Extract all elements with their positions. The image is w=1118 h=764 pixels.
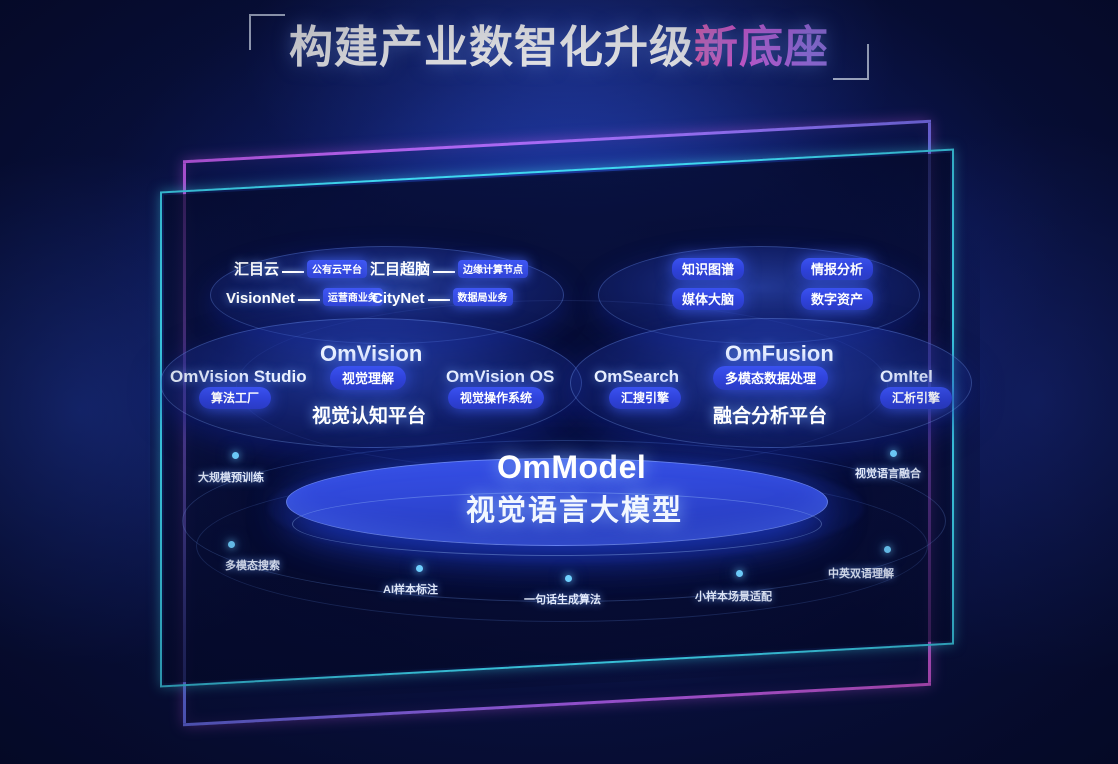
core-model-cn[interactable]: 视觉语言大模型 [466, 487, 683, 529]
entry-huimu-cloud[interactable]: 汇目云 公有云平台 [234, 258, 367, 279]
unit-omvision-cn[interactable]: 视觉理解 [330, 366, 406, 390]
core-model-en[interactable]: OmModel [497, 449, 646, 486]
satellite-multimodal-search[interactable]: 多模态搜索 [225, 557, 280, 573]
entry-dash-icon [428, 299, 450, 301]
node-dot-icon [232, 452, 239, 459]
entry-huimu-superbrain[interactable]: 汇目超脑 边缘计算节点 [370, 258, 528, 279]
entry-citynet[interactable]: CityNet 数据局业务 [372, 288, 513, 307]
badge-intel-analysis[interactable]: 情报分析 [801, 258, 873, 280]
unit-omsearch-cn[interactable]: 汇搜引擎 [609, 387, 681, 409]
unit-omsearch-en[interactable]: OmSearch [594, 367, 679, 387]
node-dot-icon [416, 565, 423, 572]
corner-bracket-top-left-icon [249, 14, 285, 50]
architecture-diagram: 汇目云 公有云平台 汇目超脑 边缘计算节点 VisionNet 运营商业务 Ci… [0, 0, 1118, 764]
entry-name: 汇目云 [234, 258, 279, 279]
entry-desc: 数据局业务 [453, 288, 513, 306]
entry-desc: 边缘计算节点 [458, 260, 528, 278]
unit-omvision-os-en[interactable]: OmVision OS [446, 367, 554, 387]
satellite-few-shot-adaptation[interactable]: 小样本场景适配 [695, 588, 772, 604]
unit-omvision-en[interactable]: OmVision [320, 341, 422, 367]
corner-bracket-bottom-right-icon [833, 44, 869, 80]
unit-omfusion-cn[interactable]: 多模态数据处理 [713, 366, 828, 390]
satellite-large-scale-pretraining[interactable]: 大规模预训练 [198, 469, 264, 485]
slide-title: 构建产业数智化升级新底座 [0, 16, 1118, 82]
unit-omvision-studio-en[interactable]: OmVision Studio [170, 367, 307, 387]
title-main-text: 构建产业数智化升级 [289, 23, 694, 72]
title-accent-text: 新底座 [694, 23, 829, 72]
badge-knowledge-graph[interactable]: 知识图谱 [672, 258, 744, 280]
node-dot-icon [228, 541, 235, 548]
platform-label-fusion-analysis: 融合分析平台 [713, 401, 827, 428]
node-dot-icon [884, 546, 891, 553]
satellite-one-sentence-algorithm[interactable]: 一句话生成算法 [524, 591, 601, 607]
entry-name: VisionNet [226, 290, 295, 307]
entry-name: 汇目超脑 [370, 258, 430, 279]
unit-omvision-os-cn[interactable]: 视觉操作系统 [448, 387, 544, 409]
badge-digital-assets[interactable]: 数字资产 [801, 288, 873, 310]
node-dot-icon [736, 570, 743, 577]
unit-omvision-studio-cn[interactable]: 算法工厂 [199, 387, 271, 409]
node-dot-icon [565, 575, 572, 582]
badge-media-brain[interactable]: 媒体大脑 [672, 288, 744, 310]
entry-dash-icon [298, 299, 320, 301]
entry-dash-icon [282, 271, 304, 273]
platform-label-visual-cognition: 视觉认知平台 [312, 401, 426, 428]
unit-omitel-en[interactable]: OmItel [880, 367, 933, 387]
satellite-vision-language-fusion[interactable]: 视觉语言融合 [855, 465, 921, 481]
entry-visionnet[interactable]: VisionNet 运营商业务 [226, 288, 383, 307]
unit-omfusion-en[interactable]: OmFusion [725, 341, 834, 367]
node-dot-icon [890, 450, 897, 457]
satellite-ai-sample-annotation[interactable]: AI样本标注 [383, 581, 438, 597]
unit-omitel-cn[interactable]: 汇析引擎 [880, 387, 952, 409]
slide-canvas: 构建产业数智化升级新底座 汇目云 公有云平台 汇目超脑 边缘计算节点 [0, 0, 1118, 764]
entry-name: CityNet [372, 290, 425, 307]
satellite-bilingual-understanding[interactable]: 中英双语理解 [828, 565, 894, 581]
entry-desc: 公有云平台 [307, 260, 367, 278]
entry-dash-icon [433, 271, 455, 273]
